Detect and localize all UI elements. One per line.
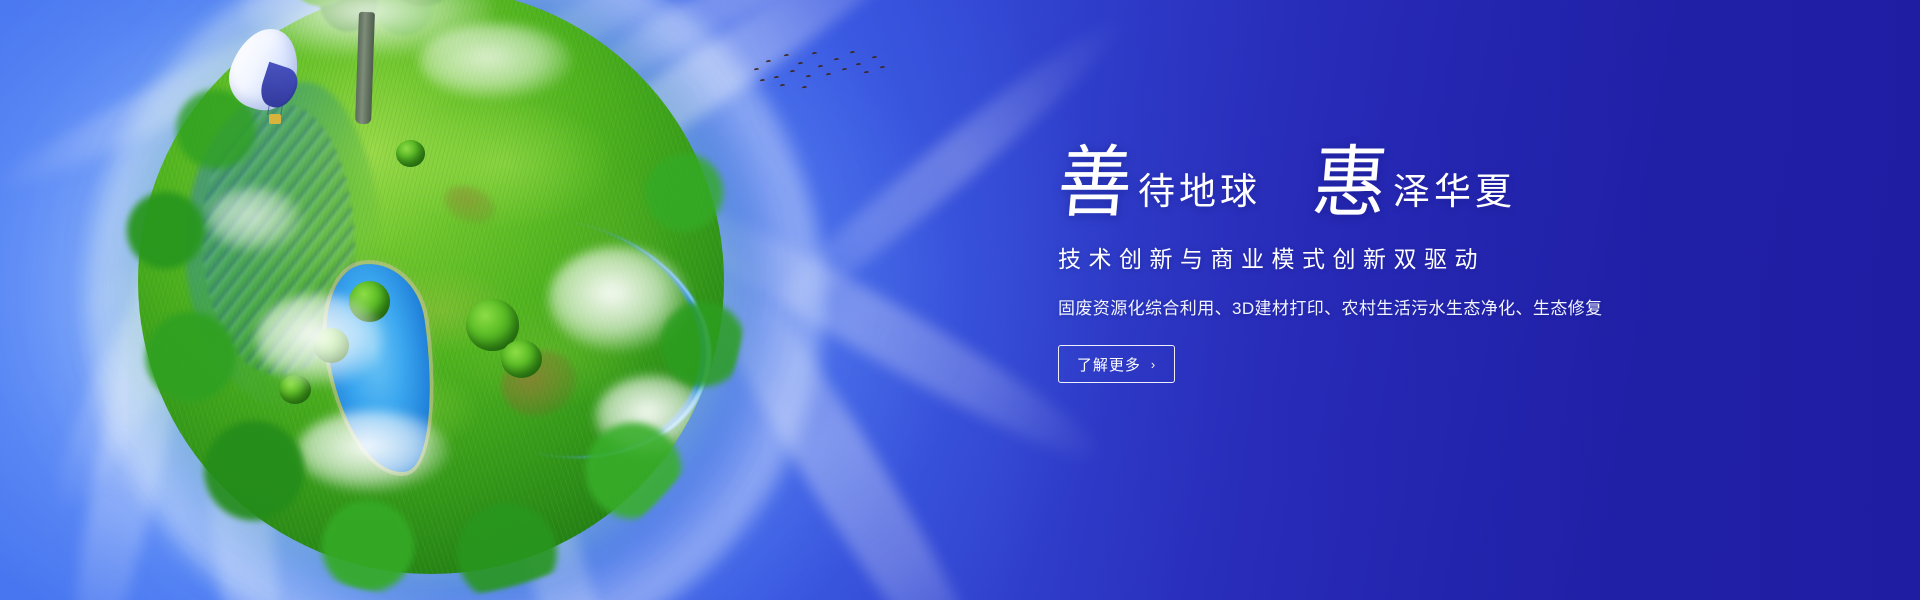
headline-phrase-1-rest: 待地球 (1138, 174, 1261, 211)
hero-banner: 善 待地球 惠 泽华夏 技术创新与商业模式创新双驱动 固废资源化综合利用、3D建… (0, 0, 1920, 600)
banner-content: 善 待地球 惠 泽华夏 技术创新与商业模式创新双驱动 固废资源化综合利用、3D建… (1058, 132, 1698, 383)
headline-phrase-1-lead-char: 善 (1055, 148, 1135, 220)
learn-more-button[interactable]: 了解更多 › (1058, 345, 1175, 383)
banner-description: 固废资源化综合利用、3D建材打印、农村生活污水生态净化、生态修复 (1058, 294, 1698, 319)
learn-more-label: 了解更多 (1077, 354, 1141, 375)
headline-phrase-2-rest: 泽华夏 (1393, 174, 1516, 211)
chevron-right-icon: › (1151, 357, 1156, 372)
headline-phrase-2-lead-char: 惠 (1310, 148, 1390, 220)
headline: 善 待地球 惠 泽华夏 (1058, 132, 1698, 218)
banner-subtitle: 技术创新与商业模式创新双驱动 (1058, 240, 1698, 274)
headline-phrase-2: 惠 泽华夏 (1313, 150, 1516, 218)
headline-phrase-1: 善 待地球 (1058, 150, 1261, 218)
